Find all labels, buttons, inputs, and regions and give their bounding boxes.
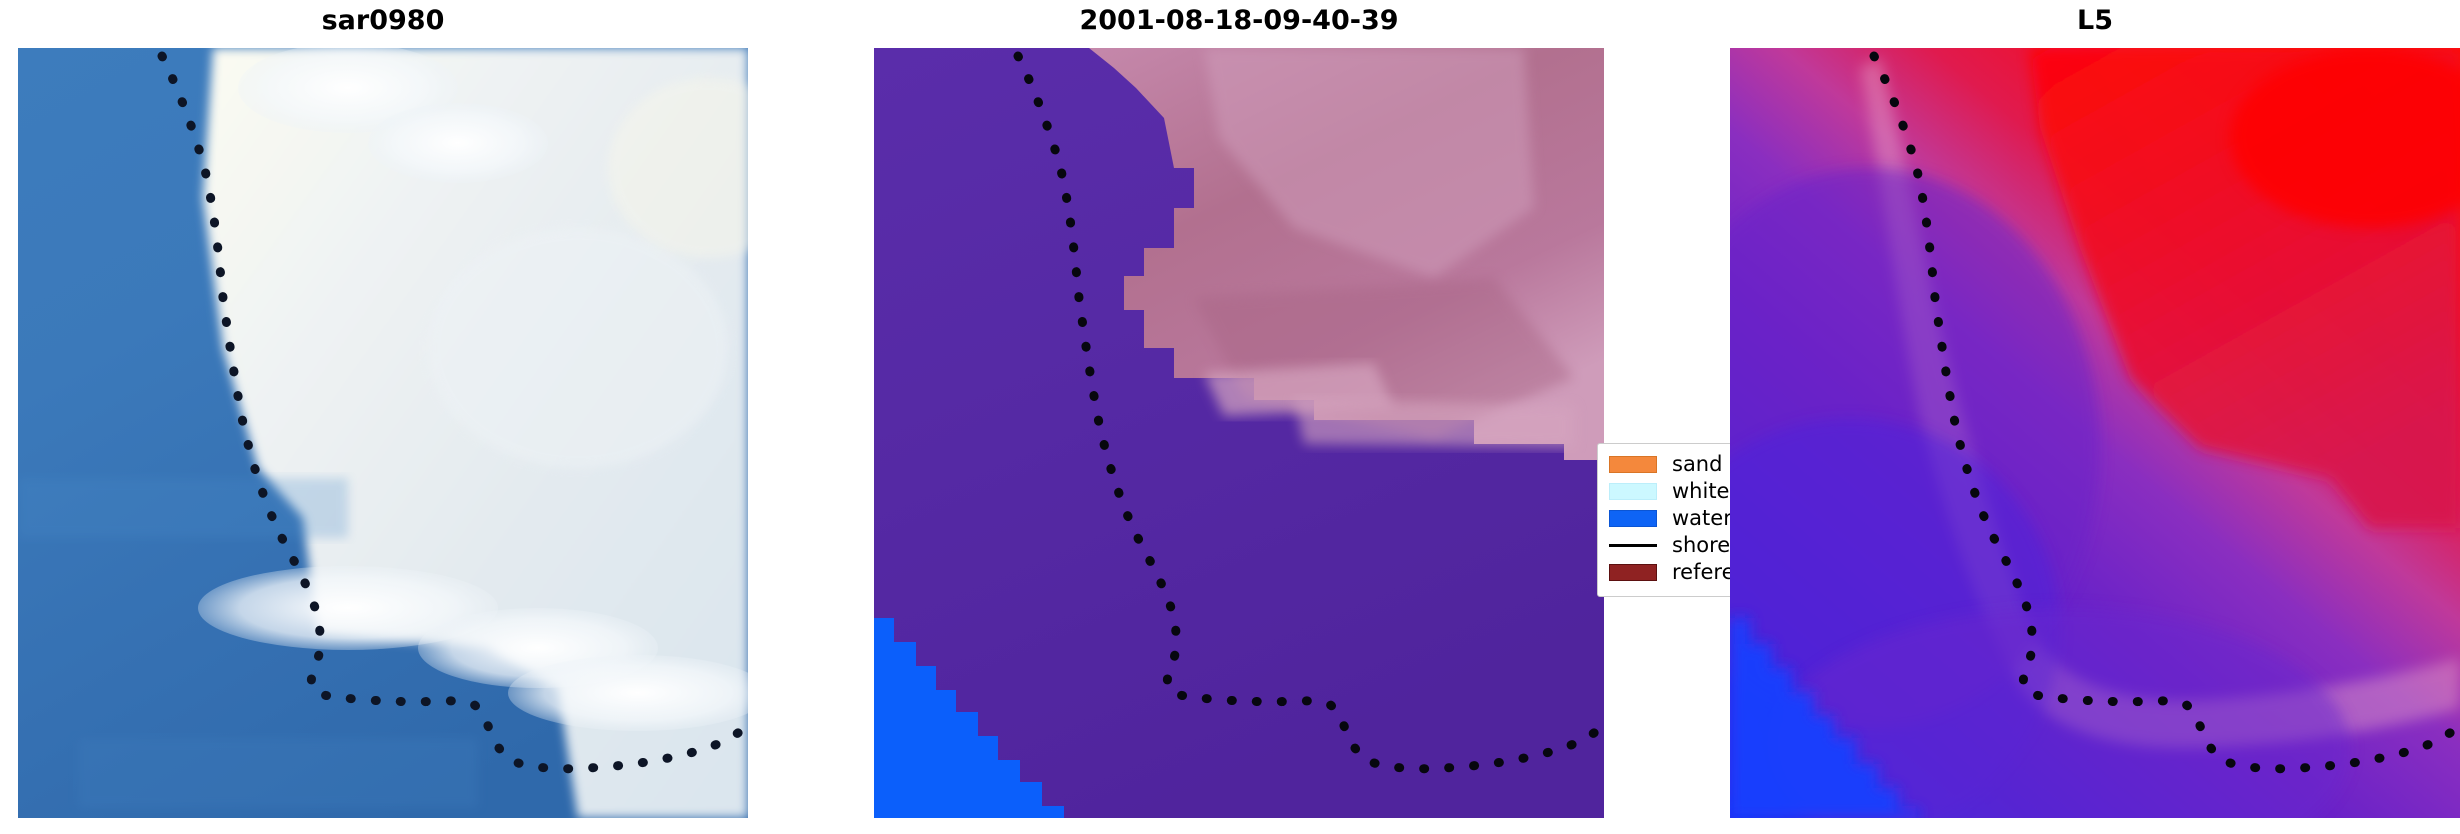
panel-classified-image[interactable] <box>874 48 1604 818</box>
classified-raster <box>874 48 1604 818</box>
legend-label-water: water <box>1672 508 1732 529</box>
reference-shoreline-swatch-icon <box>1609 564 1657 581</box>
panel-title-sar: sar0980 <box>18 6 748 36</box>
panel-title-l5: L5 <box>1730 6 2460 36</box>
whitewater-swatch-icon <box>1609 483 1657 500</box>
panel-l5-image[interactable] <box>1730 48 2460 818</box>
shoreline-line-icon <box>1609 537 1657 554</box>
panel-sar-image[interactable] <box>18 48 748 818</box>
sand-swatch-icon <box>1609 456 1657 473</box>
sar-raster <box>18 48 748 818</box>
legend-label-sand: sand <box>1672 454 1722 475</box>
panel-title-classified: 2001-08-18-09-40-39 <box>874 6 1604 36</box>
figure-canvas: sar0980 <box>0 0 2460 834</box>
l5-raster <box>1730 48 2460 818</box>
water-swatch-icon <box>1609 510 1657 527</box>
